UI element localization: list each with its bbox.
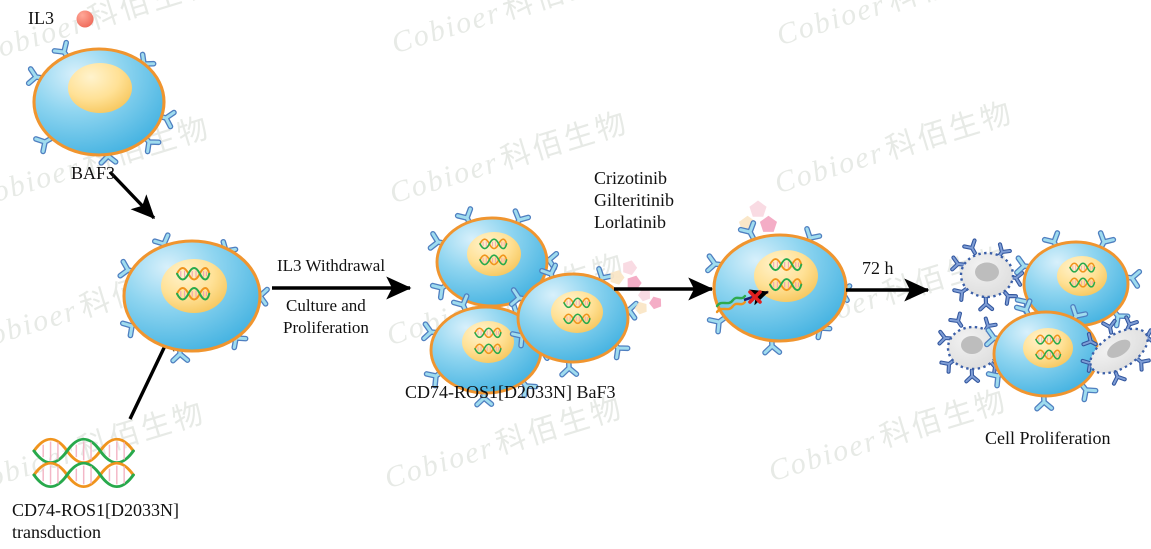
watermark-latin-text: Cobioer [765,424,882,488]
transduction-dna-icon [30,440,150,496]
watermark-cjk-text: 科佰生物 [884,0,1020,19]
watermark-latin-text: Cobioer [773,0,890,52]
outcome-label: Cell Proliferation [985,428,1110,450]
transduction-label-line1: CD74-ROS1[D2033N] [12,500,179,522]
watermark-cjk-text: 科佰生物 [499,0,635,27]
watermark-tile: Cobioer 科佰生物 [762,375,1012,490]
il3-ligand-icon [74,8,96,30]
culture-label-line1: Culture and [286,296,366,317]
watermark-tile: Cobioer 科佰生物 [770,0,1020,54]
drug-label-crizotinib: Crizotinib [594,168,667,190]
watermark-latin-text: Cobioer [0,294,82,358]
cell-baf3-parental [18,30,178,170]
incubation-label: 72 h [862,258,894,280]
il3-withdrawal-label: IL3 Withdrawal [277,256,385,277]
figure-canvas: Cobioer 科佰生物 Cobioer 科佰生物 Cobioer 科佰生物 C… [0,0,1151,549]
watermark-latin-text: Cobioer [771,136,888,200]
drug-label-lorlatinib: Lorlatinib [594,212,666,234]
culture-label-line2: Proliferation [283,318,369,339]
transduction-label-line2: transduction [12,522,101,544]
arrow-72h [846,284,942,298]
cluster-caption: CD74-ROS1[D2033N] BaF3 [405,382,616,404]
arrow-il3-withdrawal [272,282,424,296]
arrow-baf3-to-transduced [106,168,174,230]
cell-dying-3 [1080,316,1151,386]
watermark-cjk-text: 科佰生物 [882,95,1018,167]
cell-transduced [108,226,276,366]
watermark-tile: Cobioer 科佰生物 [385,0,635,62]
il3-label: IL3 [28,8,54,30]
cell-drug-treated [700,216,864,356]
baf3-label: BAF3 [71,163,115,185]
watermark-cjk-text: 科佰生物 [497,105,633,177]
watermark-latin-text: Cobioer [388,0,505,60]
watermark-latin-text: Cobioer [386,146,503,210]
watermark-latin-text: Cobioer [381,431,498,495]
drug-label-gilteritinib: Gilteritinib [594,190,674,212]
watermark-tile: Cobioer 科佰生物 [768,87,1018,202]
